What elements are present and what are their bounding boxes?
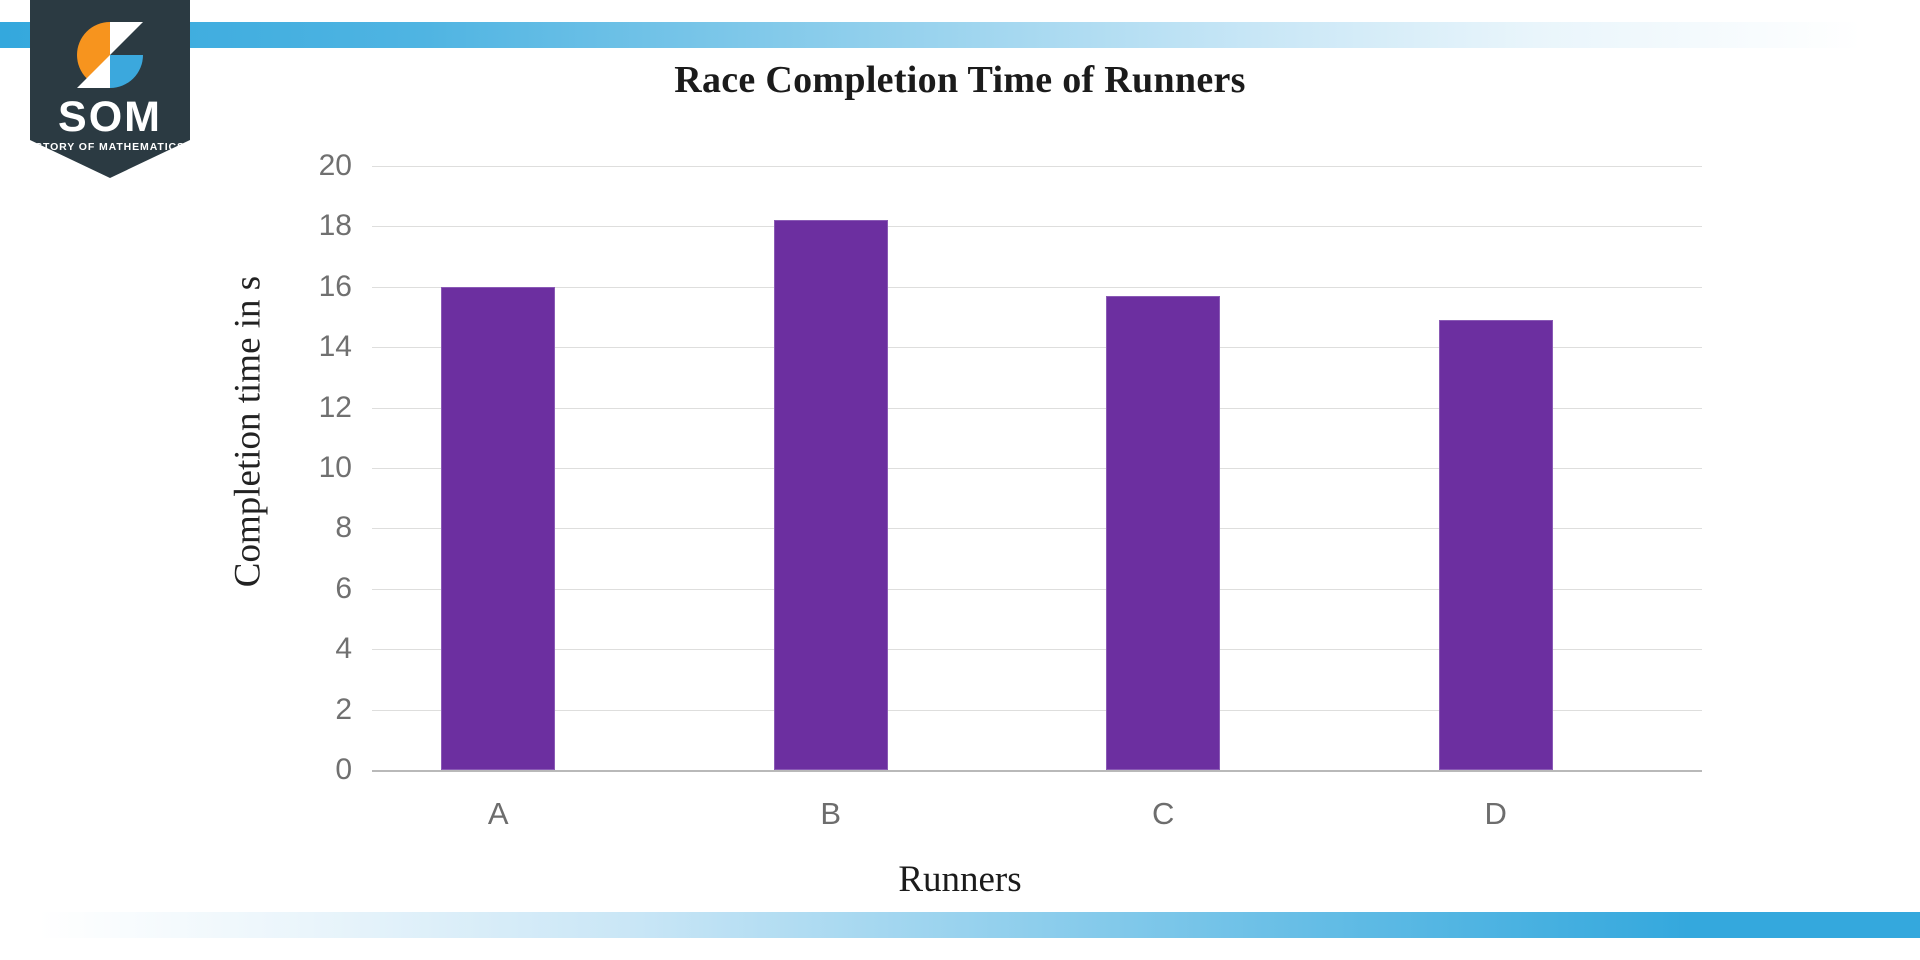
- y-tick-label: 10: [319, 451, 352, 485]
- gridline: [372, 166, 1702, 167]
- bar-chart: Race Completion Time of Runners Completi…: [0, 0, 1920, 960]
- x-tick-label-b: B: [820, 796, 841, 832]
- x-axis-title: Runners: [360, 858, 1560, 901]
- bar-d[interactable]: [1439, 320, 1553, 770]
- y-tick-label: 0: [335, 753, 352, 787]
- y-tick-label: 14: [319, 330, 352, 364]
- som-logo: SOM STORY OF MATHEMATICS: [30, 0, 190, 178]
- x-tick-label-d: D: [1485, 796, 1507, 832]
- y-tick-label: 16: [319, 270, 352, 304]
- y-tick-label: 12: [319, 391, 352, 425]
- y-tick-label: 18: [319, 209, 352, 243]
- chart-title: Race Completion Time of Runners: [360, 58, 1560, 102]
- x-tick-label-c: C: [1152, 796, 1174, 832]
- x-axis-line: [372, 770, 1702, 772]
- gridline: [372, 226, 1702, 227]
- plot-area: 20181614121086420 ABCD: [372, 166, 1702, 770]
- y-tick-label: 8: [335, 511, 352, 545]
- bar-a[interactable]: [441, 287, 555, 770]
- logo-wordmark: SOM: [58, 93, 162, 141]
- y-tick-label: 20: [319, 149, 352, 183]
- y-tick-label: 2: [335, 693, 352, 727]
- bar-b[interactable]: [774, 220, 888, 770]
- y-tick-label: 4: [335, 632, 352, 666]
- y-tick-label: 6: [335, 572, 352, 606]
- y-axis-title: Completion time in s: [227, 172, 270, 692]
- x-tick-label-a: A: [488, 796, 509, 832]
- gridline: [372, 287, 1702, 288]
- logo-tagline: STORY OF MATHEMATICS: [35, 141, 185, 153]
- bar-c[interactable]: [1106, 296, 1220, 770]
